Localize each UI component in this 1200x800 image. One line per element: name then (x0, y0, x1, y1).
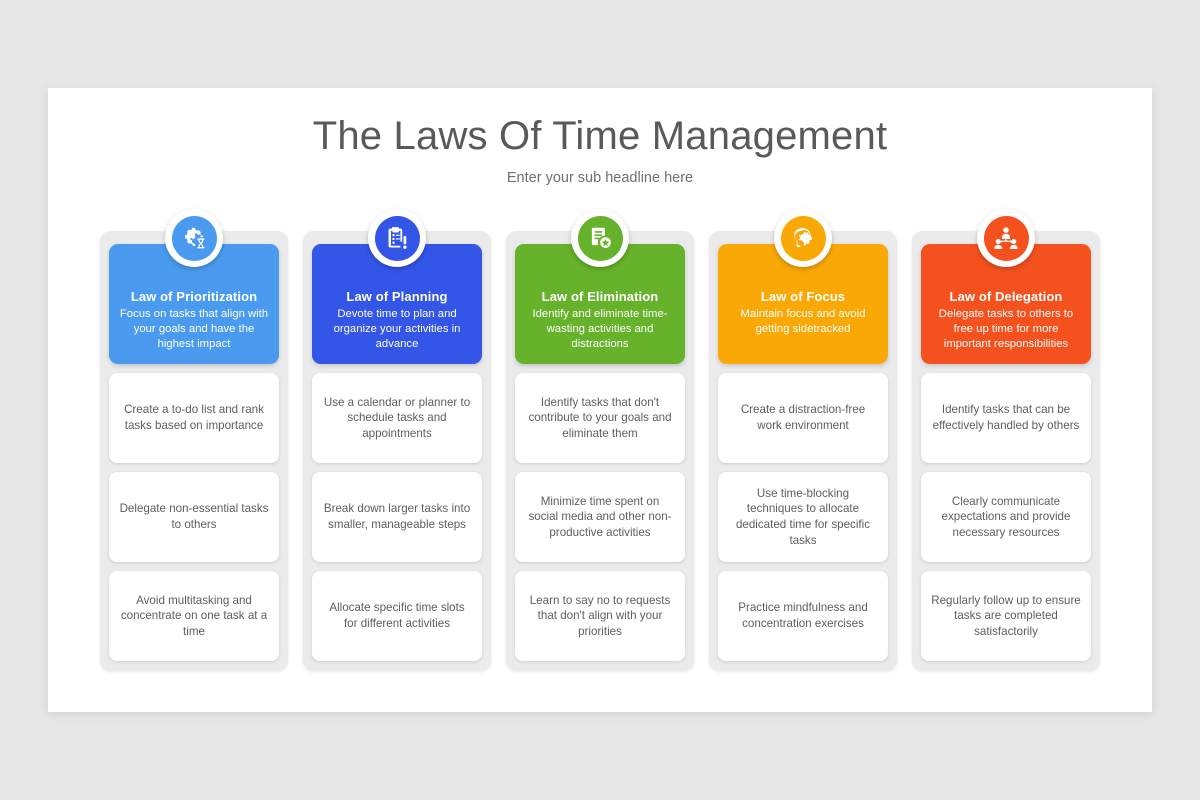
law-item-card[interactable]: Avoid multitasking and concentrate on on… (109, 571, 279, 661)
law-icon-badge (165, 209, 223, 267)
clipboard-checklist-icon (375, 216, 420, 261)
law-title: Law of Prioritization (117, 289, 271, 305)
law-item-card[interactable]: Regularly follow up to ensure tasks are … (921, 571, 1091, 661)
law-description: Focus on tasks that align with your goal… (117, 307, 271, 351)
head-target-icon (781, 216, 826, 261)
law-item-card[interactable]: Use a calendar or planner to schedule ta… (312, 373, 482, 463)
law-icon-badge (977, 209, 1035, 267)
law-item-card[interactable]: Identify tasks that can be effectively h… (921, 373, 1091, 463)
page-subtitle: Enter your sub headline here (48, 170, 1152, 186)
law-item-card[interactable]: Delegate non-essential tasks to others (109, 472, 279, 562)
law-title: Law of Delegation (929, 289, 1083, 305)
law-column: Law of EliminationIdentify and eliminate… (506, 231, 694, 671)
law-header-card[interactable]: Law of EliminationIdentify and eliminate… (515, 244, 685, 364)
law-icon-badge (368, 209, 426, 267)
slide-surface: The Laws Of Time Management Enter your s… (48, 88, 1152, 712)
law-header-card[interactable]: Law of PlanningDevote time to plan and o… (312, 244, 482, 364)
law-description: Maintain focus and avoid getting sidetra… (726, 307, 880, 336)
law-item-card[interactable]: Break down larger tasks into smaller, ma… (312, 472, 482, 562)
law-item-card[interactable]: Create a to-do list and rank tasks based… (109, 373, 279, 463)
law-column: Law of PlanningDevote time to plan and o… (303, 231, 491, 671)
laws-columns-container: Law of PrioritizationFocus on tasks that… (100, 231, 1100, 671)
law-icon-badge (571, 209, 629, 267)
law-item-card[interactable]: Identify tasks that don't contribute to … (515, 373, 685, 463)
law-header-card[interactable]: Law of PrioritizationFocus on tasks that… (109, 244, 279, 364)
law-item-card[interactable]: Use time-blocking techniques to allocate… (718, 472, 888, 562)
page-title: The Laws Of Time Management (48, 114, 1152, 159)
law-item-card[interactable]: Create a distraction-free work environme… (718, 373, 888, 463)
law-description: Devote time to plan and organize your ac… (320, 307, 474, 351)
law-title: Law of Planning (320, 289, 474, 305)
law-item-card[interactable]: Practice mindfulness and concentration e… (718, 571, 888, 661)
law-item-card[interactable]: Learn to say no to requests that don't a… (515, 571, 685, 661)
law-column: Law of FocusMaintain focus and avoid get… (709, 231, 897, 671)
law-item-card[interactable]: Allocate specific time slots for differe… (312, 571, 482, 661)
document-star-icon (578, 216, 623, 261)
law-column: Law of PrioritizationFocus on tasks that… (100, 231, 288, 671)
law-description: Delegate tasks to others to free up time… (929, 307, 1083, 351)
gear-hourglass-icon (172, 216, 217, 261)
law-item-card[interactable]: Minimize time spent on social media and … (515, 472, 685, 562)
law-icon-badge (774, 209, 832, 267)
law-column: Law of DelegationDelegate tasks to other… (912, 231, 1100, 671)
team-people-icon (984, 216, 1029, 261)
law-header-card[interactable]: Law of DelegationDelegate tasks to other… (921, 244, 1091, 364)
law-header-card[interactable]: Law of FocusMaintain focus and avoid get… (718, 244, 888, 364)
law-title: Law of Focus (726, 289, 880, 305)
law-item-card[interactable]: Clearly communicate expectations and pro… (921, 472, 1091, 562)
law-title: Law of Elimination (523, 289, 677, 305)
law-description: Identify and eliminate time-wasting acti… (523, 307, 677, 351)
